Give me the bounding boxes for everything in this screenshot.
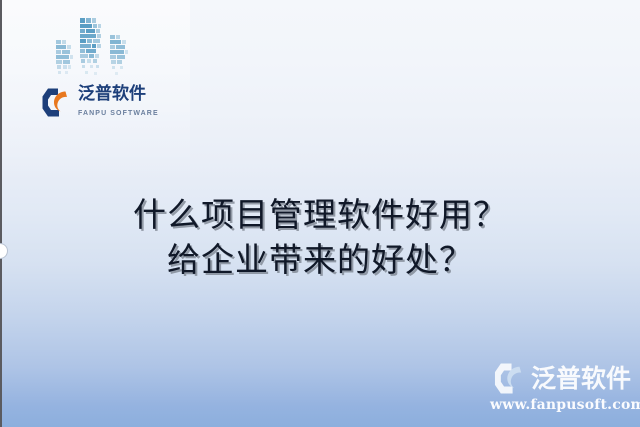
page-title: 什么项目管理软件好用？ 给企业带来的好处？ [0, 192, 640, 282]
pixel-city-skyline-icon [54, 12, 150, 80]
brand-wordmark: 泛普软件 FANPU SOFTWARE [78, 86, 172, 119]
fanpu-c-swoosh-logo-icon [494, 363, 528, 394]
brand-name-en: FANPU SOFTWARE [78, 110, 159, 117]
brand-block: 泛普软件 FANPU SOFTWARE [42, 8, 172, 126]
watermark-name-cn: 泛普软件 [531, 366, 631, 391]
watermark: 泛普软件 www.fanpusoft.com [490, 363, 636, 421]
watermark-url: www.fanpusoft.com [490, 397, 636, 413]
page-title-line-2: 给企业带来的好处？ [0, 237, 640, 282]
page-title-line-1: 什么项目管理软件好用？ [0, 192, 640, 237]
slide-canvas: 泛普软件 FANPU SOFTWARE 什么项目管理软件好用？ 给企业带来的好处… [0, 0, 640, 427]
fanpu-c-swoosh-logo-icon [42, 88, 73, 117]
brand-logo: 泛普软件 FANPU SOFTWARE [42, 86, 172, 119]
watermark-logo: 泛普软件 [494, 363, 636, 394]
brand-name-cn: 泛普软件 [78, 84, 146, 104]
